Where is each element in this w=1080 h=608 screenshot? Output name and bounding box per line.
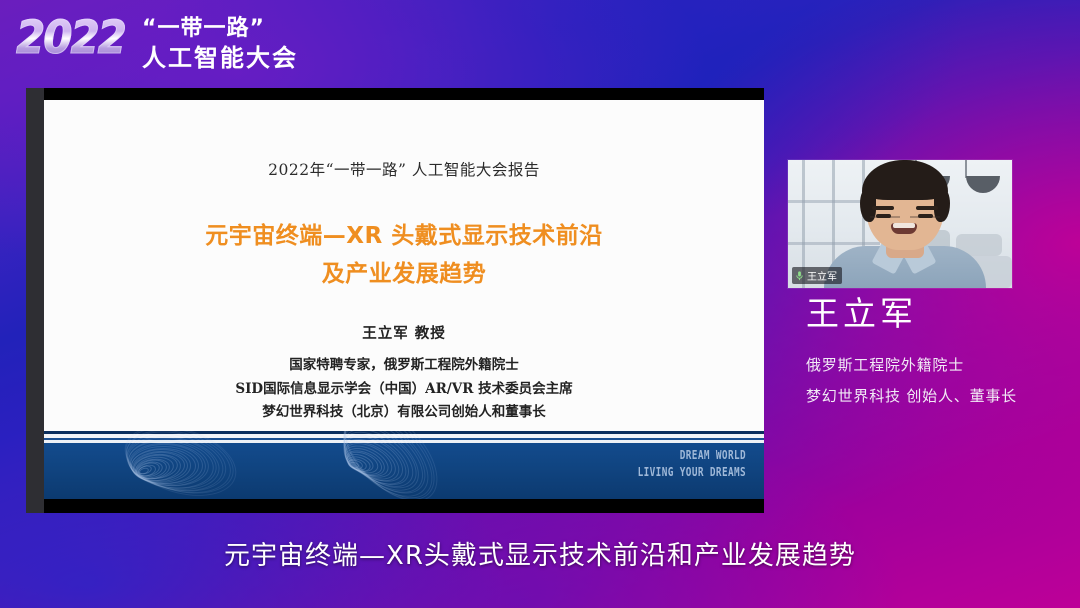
slide-letterbox-bottom <box>44 499 764 513</box>
slide-footer-band: DREAM WORLD LIVING YOUR DREAMS <box>44 431 764 499</box>
affiliation-line: SID国际信息显示学会（中国）AR/VR 技术委员会主席 <box>44 378 764 402</box>
slide-affiliations: 国家特聘专家，俄罗斯工程院外籍院士 SID国际信息显示学会（中国）AR/VR 技… <box>44 354 764 425</box>
speaker-video-tile[interactable]: 王立军 <box>788 160 1012 288</box>
slide-title-line1: 元宇宙终端—XR 头戴式显示技术前沿 <box>44 218 764 256</box>
logo-title-line2: 人工智能大会 <box>142 38 298 73</box>
presentation-slide[interactable]: 2022年“一带一路” 人工智能大会报告 元宇宙终端—XR 头戴式显示技术前沿 … <box>26 88 764 513</box>
affiliation-line: 梦幻世界科技（北京）有限公司创始人和董事长 <box>44 401 764 425</box>
caption-text: 元宇宙终端—XR头戴式显示技术前沿和产业发展趋势 <box>224 535 856 572</box>
slide-letterbox-top <box>44 88 764 100</box>
speaker-figure <box>830 170 980 288</box>
band-brand-text: DREAM WORLD LIVING YOUR DREAMS <box>638 447 746 482</box>
broadcast-stage: 2022 “一带一路” 人工智能大会 2022年“一带一路” 人工智能大会报告 … <box>0 0 1080 608</box>
speaker-name: 王立军 <box>806 296 1076 332</box>
logo-year: 2022 <box>16 11 125 64</box>
lower-third-caption: 元宇宙终端—XR头戴式显示技术前沿和产业发展趋势 <box>0 530 1080 576</box>
brand-line2: LIVING YOUR DREAMS <box>638 464 746 481</box>
slide-kicker: 2022年“一带一路” 人工智能大会报告 <box>44 158 764 180</box>
video-name-badge: 王立军 <box>792 267 842 284</box>
speaker-role-1: 俄罗斯工程院外籍院士 <box>806 354 1076 375</box>
slide-title-line2: 及产业发展趋势 <box>44 256 764 294</box>
slide-content: 2022年“一带一路” 人工智能大会报告 元宇宙终端—XR 头戴式显示技术前沿 … <box>44 100 764 499</box>
band-swirl-decor-right <box>234 435 534 499</box>
video-name-badge-label: 王立军 <box>807 268 837 283</box>
speaker-role-2: 梦幻世界科技 创始人、董事长 <box>806 385 1076 406</box>
slide-title: 元宇宙终端—XR 头戴式显示技术前沿 及产业发展趋势 <box>44 218 764 294</box>
microphone-icon <box>794 270 805 282</box>
speaker-info: 王立军 俄罗斯工程院外籍院士 梦幻世界科技 创始人、董事长 <box>806 296 1076 406</box>
brand-line1: DREAM WORLD <box>638 447 746 464</box>
event-logo: 2022 “一带一路” 人工智能大会 <box>14 8 314 72</box>
affiliation-line: 国家特聘专家，俄罗斯工程院外籍院士 <box>44 354 764 378</box>
slide-speaker-name: 王立军 教授 <box>44 322 764 343</box>
